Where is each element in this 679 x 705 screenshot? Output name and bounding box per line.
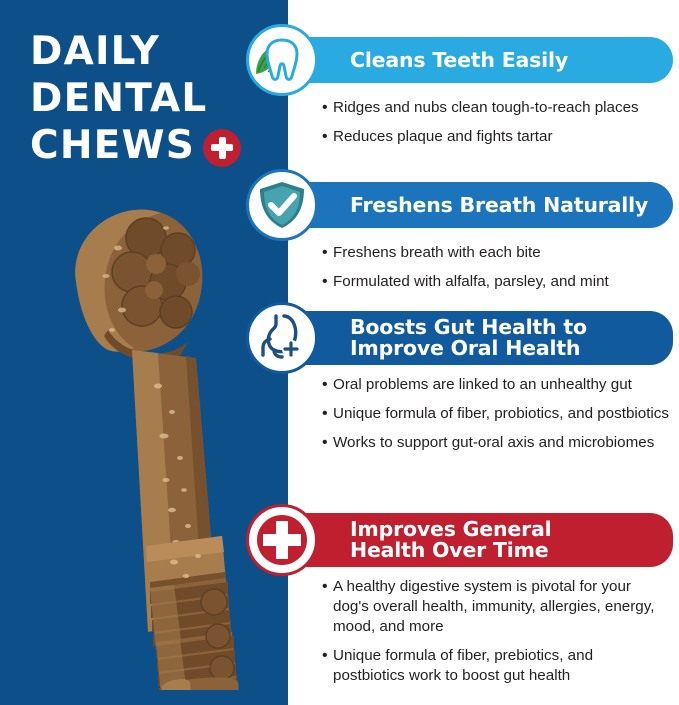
bullet-text: Oral problems are linked to an unhealthy…: [333, 375, 672, 395]
infographic-root: DAILY DENTAL CHEWS: [0, 0, 679, 705]
benefit-bullets-freshens-breath: • Freshens breath with each bite • Formu…: [322, 243, 672, 301]
list-item: • A healthy digestive system is pivotal …: [322, 577, 662, 637]
shield-check-icon: [246, 169, 318, 241]
bullet-text: Ridges and nubs clean tough-to-reach pla…: [333, 98, 672, 118]
stomach-plus-icon: [246, 302, 318, 374]
bullet-text: Unique formula of fiber, probiotics, and…: [333, 404, 672, 424]
bullet-dot: •: [322, 98, 333, 118]
benefit-header-cleans-teeth: Cleans Teeth Easily: [268, 37, 673, 83]
benefit-header-freshens-breath: Freshens Breath Naturally: [268, 182, 673, 228]
list-item: • Oral problems are linked to an unhealt…: [322, 375, 672, 395]
bullet-dot: •: [322, 127, 333, 147]
benefit-title-boosts-gut-health: Boosts Gut Health to Improve Oral Health: [350, 317, 587, 359]
bullet-dot: •: [322, 272, 333, 292]
medical-cross-circle-icon: [246, 504, 318, 576]
bullet-text: Reduces plaque and fights tartar: [333, 127, 672, 147]
list-item: • Ridges and nubs clean tough-to-reach p…: [322, 98, 672, 118]
bullet-text: A healthy digestive system is pivotal fo…: [333, 577, 662, 637]
benefit-header-boosts-gut-health: Boosts Gut Health to Improve Oral Health: [268, 311, 673, 365]
tooth-mint-leaf-icon: [246, 24, 318, 96]
bullet-dot: •: [322, 646, 333, 666]
benefit-bullets-cleans-teeth: • Ridges and nubs clean tough-to-reach p…: [322, 98, 672, 156]
benefit-bullets-boosts-gut-health: • Oral problems are linked to an unhealt…: [322, 375, 672, 462]
list-item: • Formulated with alfalfa, parsley, and …: [322, 272, 672, 292]
bullet-text: Freshens breath with each bite: [333, 243, 672, 263]
benefits-list: Cleans Teeth Easily • Ridges and nubs cl…: [0, 0, 679, 705]
list-item: • Unique formula of fiber, prebiotics, a…: [322, 646, 662, 686]
bullet-dot: •: [322, 375, 333, 395]
benefit-bullets-improves-general-health: • A healthy digestive system is pivotal …: [322, 577, 662, 695]
benefit-title-improves-general-health: Improves General Health Over Time: [350, 519, 551, 561]
bullet-text: Formulated with alfalfa, parsley, and mi…: [333, 272, 672, 292]
bullet-text: Works to support gut-oral axis and micro…: [333, 433, 672, 453]
list-item: • Reduces plaque and fights tartar: [322, 127, 672, 147]
list-item: • Works to support gut-oral axis and mic…: [322, 433, 672, 453]
benefit-title-cleans-teeth: Cleans Teeth Easily: [350, 50, 568, 71]
bullet-dot: •: [322, 577, 333, 597]
list-item: • Freshens breath with each bite: [322, 243, 672, 263]
bullet-dot: •: [322, 404, 333, 424]
benefit-title-freshens-breath: Freshens Breath Naturally: [350, 195, 648, 216]
bullet-dot: •: [322, 433, 333, 453]
benefit-header-improves-general-health: Improves General Health Over Time: [268, 513, 673, 567]
bullet-text: Unique formula of fiber, prebiotics, and…: [333, 646, 662, 686]
bullet-dot: •: [322, 243, 333, 263]
list-item: • Unique formula of fiber, probiotics, a…: [322, 404, 672, 424]
